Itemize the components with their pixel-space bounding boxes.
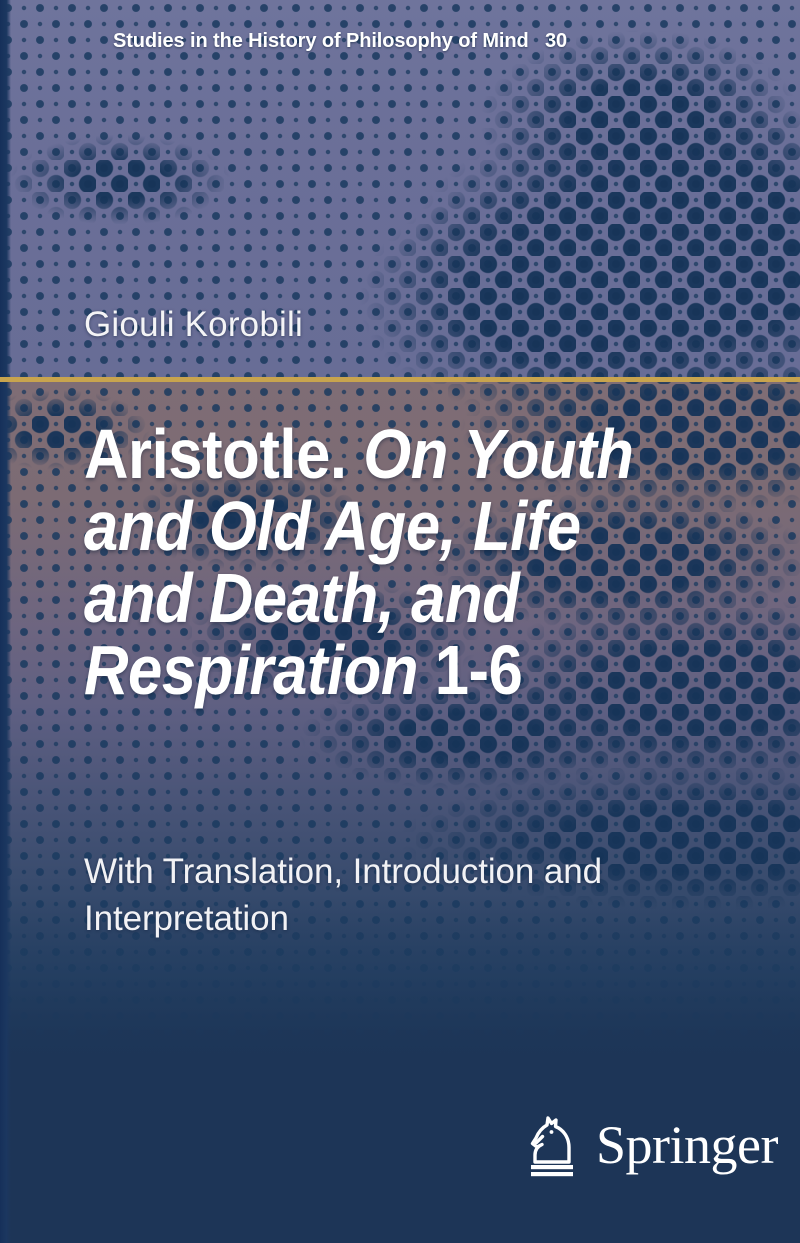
subtitle-line-2: Interpretation — [84, 895, 704, 942]
series-title: Studies in the History of Philosophy of … — [113, 30, 567, 53]
subtitle-line-1: With Translation, Introduction and — [84, 848, 704, 895]
gold-divider-rule — [0, 377, 800, 382]
title-line-2: and Old Age, Life — [84, 490, 665, 562]
publisher-logo: Springer — [518, 1112, 778, 1184]
book-cover: Studies in the History of Philosophy of … — [0, 0, 800, 1243]
title-line-3-italic-text: and Death, and — [84, 559, 519, 637]
title-line-1-upright: Aristotle. — [84, 415, 347, 493]
title-line-1-italic — [347, 415, 364, 493]
title-line-4-space — [418, 631, 435, 709]
book-title: Aristotle. On Youth and Old Age, Life an… — [84, 418, 744, 706]
author-name: Giouli Korobili — [84, 305, 303, 345]
springer-knight-icon — [518, 1112, 582, 1184]
publisher-wordmark: Springer — [596, 1118, 778, 1178]
title-line-4: Respiration 1-6 — [84, 634, 665, 706]
spine-shadow-edge — [0, 0, 11, 1243]
title-line-2-italic-text: and Old Age, Life — [84, 487, 581, 565]
title-line-4-italic-text: Respiration — [84, 631, 418, 709]
title-line-1-italic-text: On Youth — [363, 415, 633, 493]
book-subtitle: With Translation, Introduction and Inter… — [84, 848, 704, 942]
title-line-4-chapter-range: 1-6 — [435, 631, 523, 709]
title-line-3: and Death, and — [84, 562, 665, 634]
title-line-1: Aristotle. On Youth — [84, 418, 665, 490]
